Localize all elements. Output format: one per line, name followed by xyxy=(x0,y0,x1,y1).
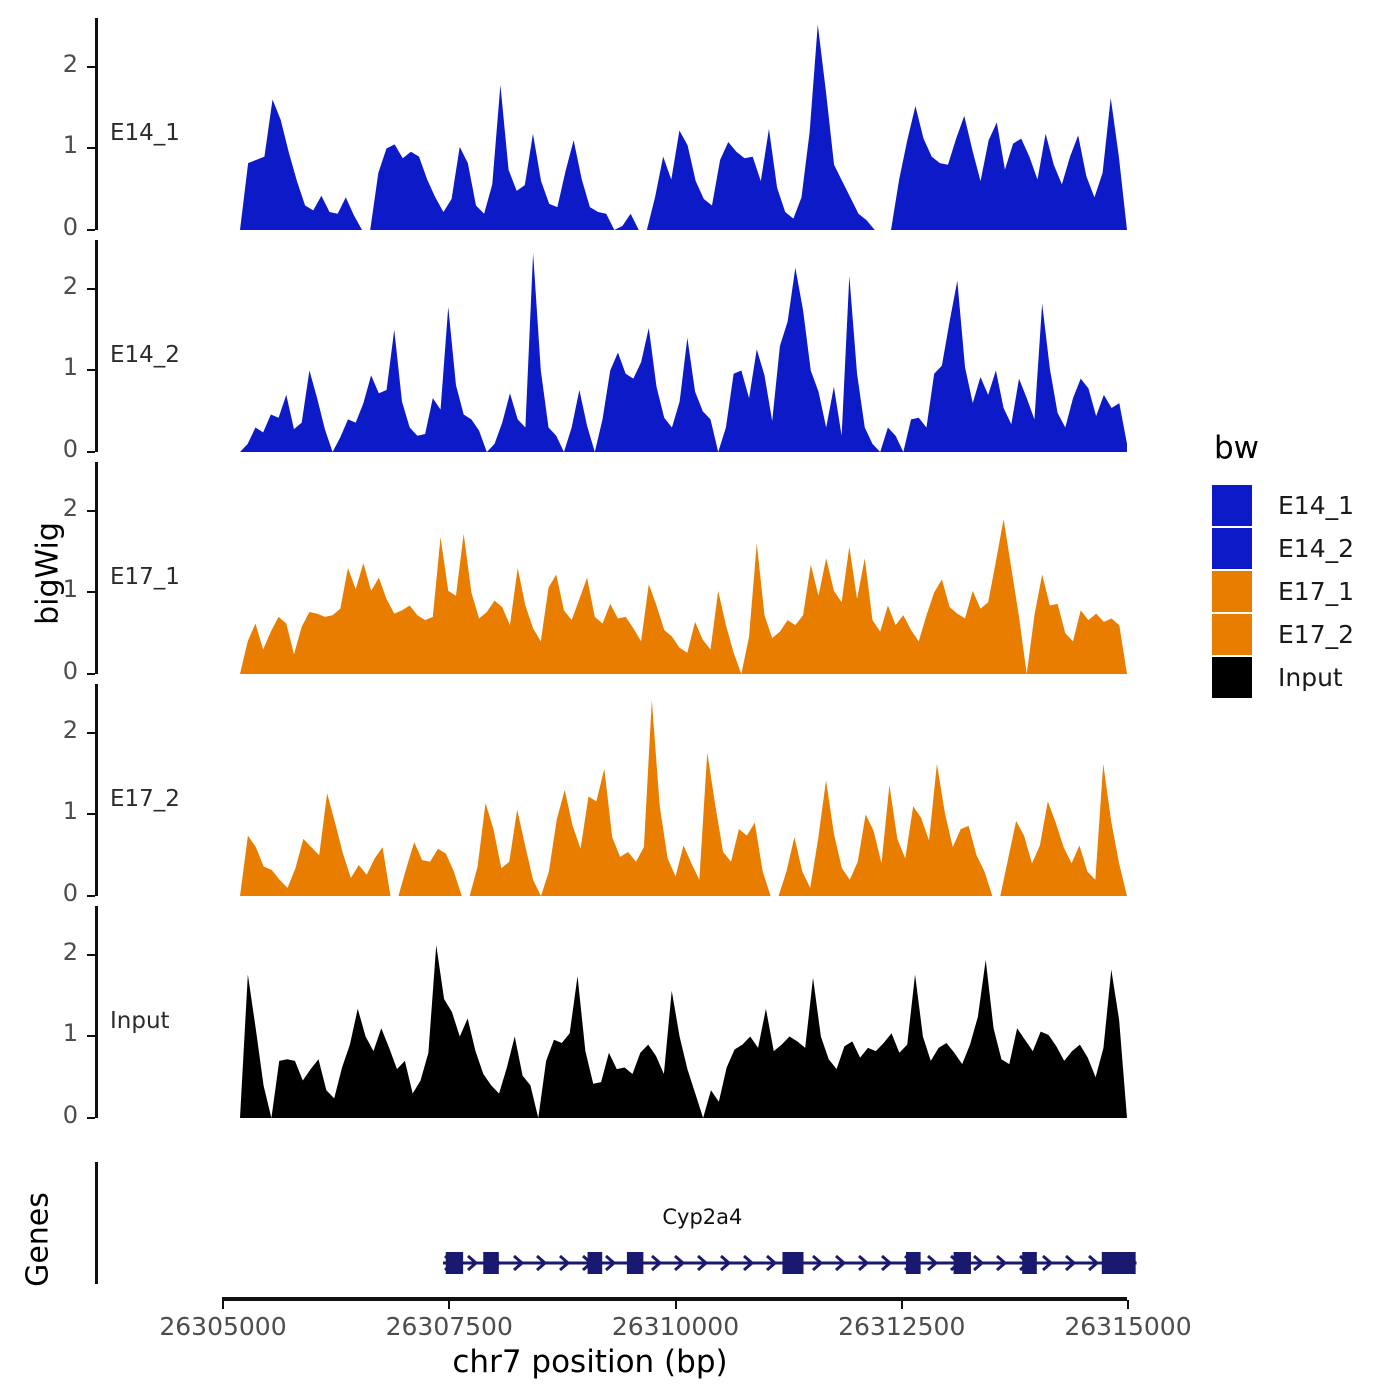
y-axis-line xyxy=(95,462,98,674)
y-tick-label: 2 xyxy=(18,496,78,520)
track-panel-e17_2: 012E17_2 xyxy=(0,684,1160,896)
x-tick xyxy=(448,1300,450,1309)
y-tick xyxy=(87,1117,95,1119)
y-tick xyxy=(87,66,95,68)
y-tick xyxy=(87,591,95,593)
legend-swatch-e14_2 xyxy=(1212,528,1252,569)
legend-swatch-e17_1 xyxy=(1212,571,1252,612)
x-tick-label: 26312500 xyxy=(782,1312,1022,1341)
y-tick-label: 1 xyxy=(18,355,78,379)
y-tick xyxy=(87,229,95,231)
track-label-e17_1: E17_1 xyxy=(110,564,180,590)
track-label-input: Input xyxy=(110,1008,170,1034)
track-label-e17_2: E17_2 xyxy=(110,786,180,812)
gene-name-label: Cyp2a4 xyxy=(552,1205,852,1229)
legend-item-e17_1[interactable]: E17_1 xyxy=(1212,570,1392,613)
genes-axis-line xyxy=(95,1162,98,1284)
track-panel-e17_1: 012E17_1 xyxy=(0,462,1160,674)
y-tick-label: 1 xyxy=(18,133,78,157)
signal-area-e14_1 xyxy=(240,18,1127,230)
y-tick xyxy=(87,673,95,675)
y-tick-label: 1 xyxy=(18,799,78,823)
legend-item-e14_2[interactable]: E14_2 xyxy=(1212,527,1392,570)
legend-item-e14_1[interactable]: E14_1 xyxy=(1212,484,1392,527)
y-tick xyxy=(87,954,95,956)
legend-label: E14_1 xyxy=(1278,491,1354,520)
y-tick-label: 1 xyxy=(18,577,78,601)
x-axis-title: chr7 position (bp) xyxy=(0,1344,1180,1380)
x-tick-label: 26315000 xyxy=(1008,1312,1248,1341)
track-panel-e14_2: 012E14_2 xyxy=(0,240,1160,452)
legend-label: E17_2 xyxy=(1278,620,1354,649)
legend-swatch-e14_1 xyxy=(1212,485,1252,526)
y-axis-line xyxy=(95,684,98,896)
y-tick-label: 0 xyxy=(18,437,78,461)
y-axis-line xyxy=(95,18,98,230)
y-tick xyxy=(87,510,95,512)
gene-model-track[interactable] xyxy=(443,1248,1137,1278)
y-tick-label: 2 xyxy=(18,718,78,742)
y-tick-label: 2 xyxy=(18,274,78,298)
x-tick-label: 26310000 xyxy=(556,1312,796,1341)
x-tick-label: 26307500 xyxy=(329,1312,569,1341)
x-tick xyxy=(1127,1300,1129,1309)
y-tick xyxy=(87,813,95,815)
legend-item-input[interactable]: Input xyxy=(1212,656,1392,699)
y-tick xyxy=(87,288,95,290)
x-tick-label: 26305000 xyxy=(103,1312,343,1341)
y-tick-label: 2 xyxy=(18,940,78,964)
x-tick xyxy=(675,1300,677,1309)
track-panel-e14_1: 012E14_1 xyxy=(0,18,1160,230)
legend-title: bw xyxy=(1214,430,1392,466)
y-tick-label: 1 xyxy=(18,1021,78,1045)
legend-swatch-e17_2 xyxy=(1212,614,1252,655)
legend-item-e17_2[interactable]: E17_2 xyxy=(1212,613,1392,656)
y-tick-label: 0 xyxy=(18,659,78,683)
y-tick xyxy=(87,147,95,149)
signal-area-e17_2 xyxy=(240,684,1127,896)
y-tick-label: 0 xyxy=(18,215,78,239)
y-tick-label: 0 xyxy=(18,881,78,905)
x-tick xyxy=(901,1300,903,1309)
y-tick-label: 0 xyxy=(18,1103,78,1127)
track-label-e14_1: E14_1 xyxy=(110,120,180,146)
legend-label: E14_2 xyxy=(1278,534,1354,563)
y-tick xyxy=(87,732,95,734)
track-label-e14_2: E14_2 xyxy=(110,342,180,368)
y-tick xyxy=(87,895,95,897)
y-tick-label: 2 xyxy=(18,52,78,76)
signal-area-input xyxy=(240,906,1127,1118)
legend-label: Input xyxy=(1278,663,1343,692)
x-tick xyxy=(222,1300,224,1309)
signal-area-e17_1 xyxy=(240,462,1127,674)
legend: bw E14_1E14_2E17_1E17_2Input xyxy=(1212,430,1392,699)
legend-label: E17_1 xyxy=(1278,577,1354,606)
y-tick xyxy=(87,369,95,371)
genes-axis-title: Genes xyxy=(21,1140,56,1340)
legend-items: E14_1E14_2E17_1E17_2Input xyxy=(1212,484,1392,699)
y-axis-line xyxy=(95,240,98,452)
signal-area-e14_2 xyxy=(240,240,1127,452)
y-tick xyxy=(87,451,95,453)
y-tick xyxy=(87,1035,95,1037)
y-axis-line xyxy=(95,906,98,1118)
track-panel-input: 012Input xyxy=(0,906,1160,1118)
legend-swatch-input xyxy=(1212,657,1252,698)
